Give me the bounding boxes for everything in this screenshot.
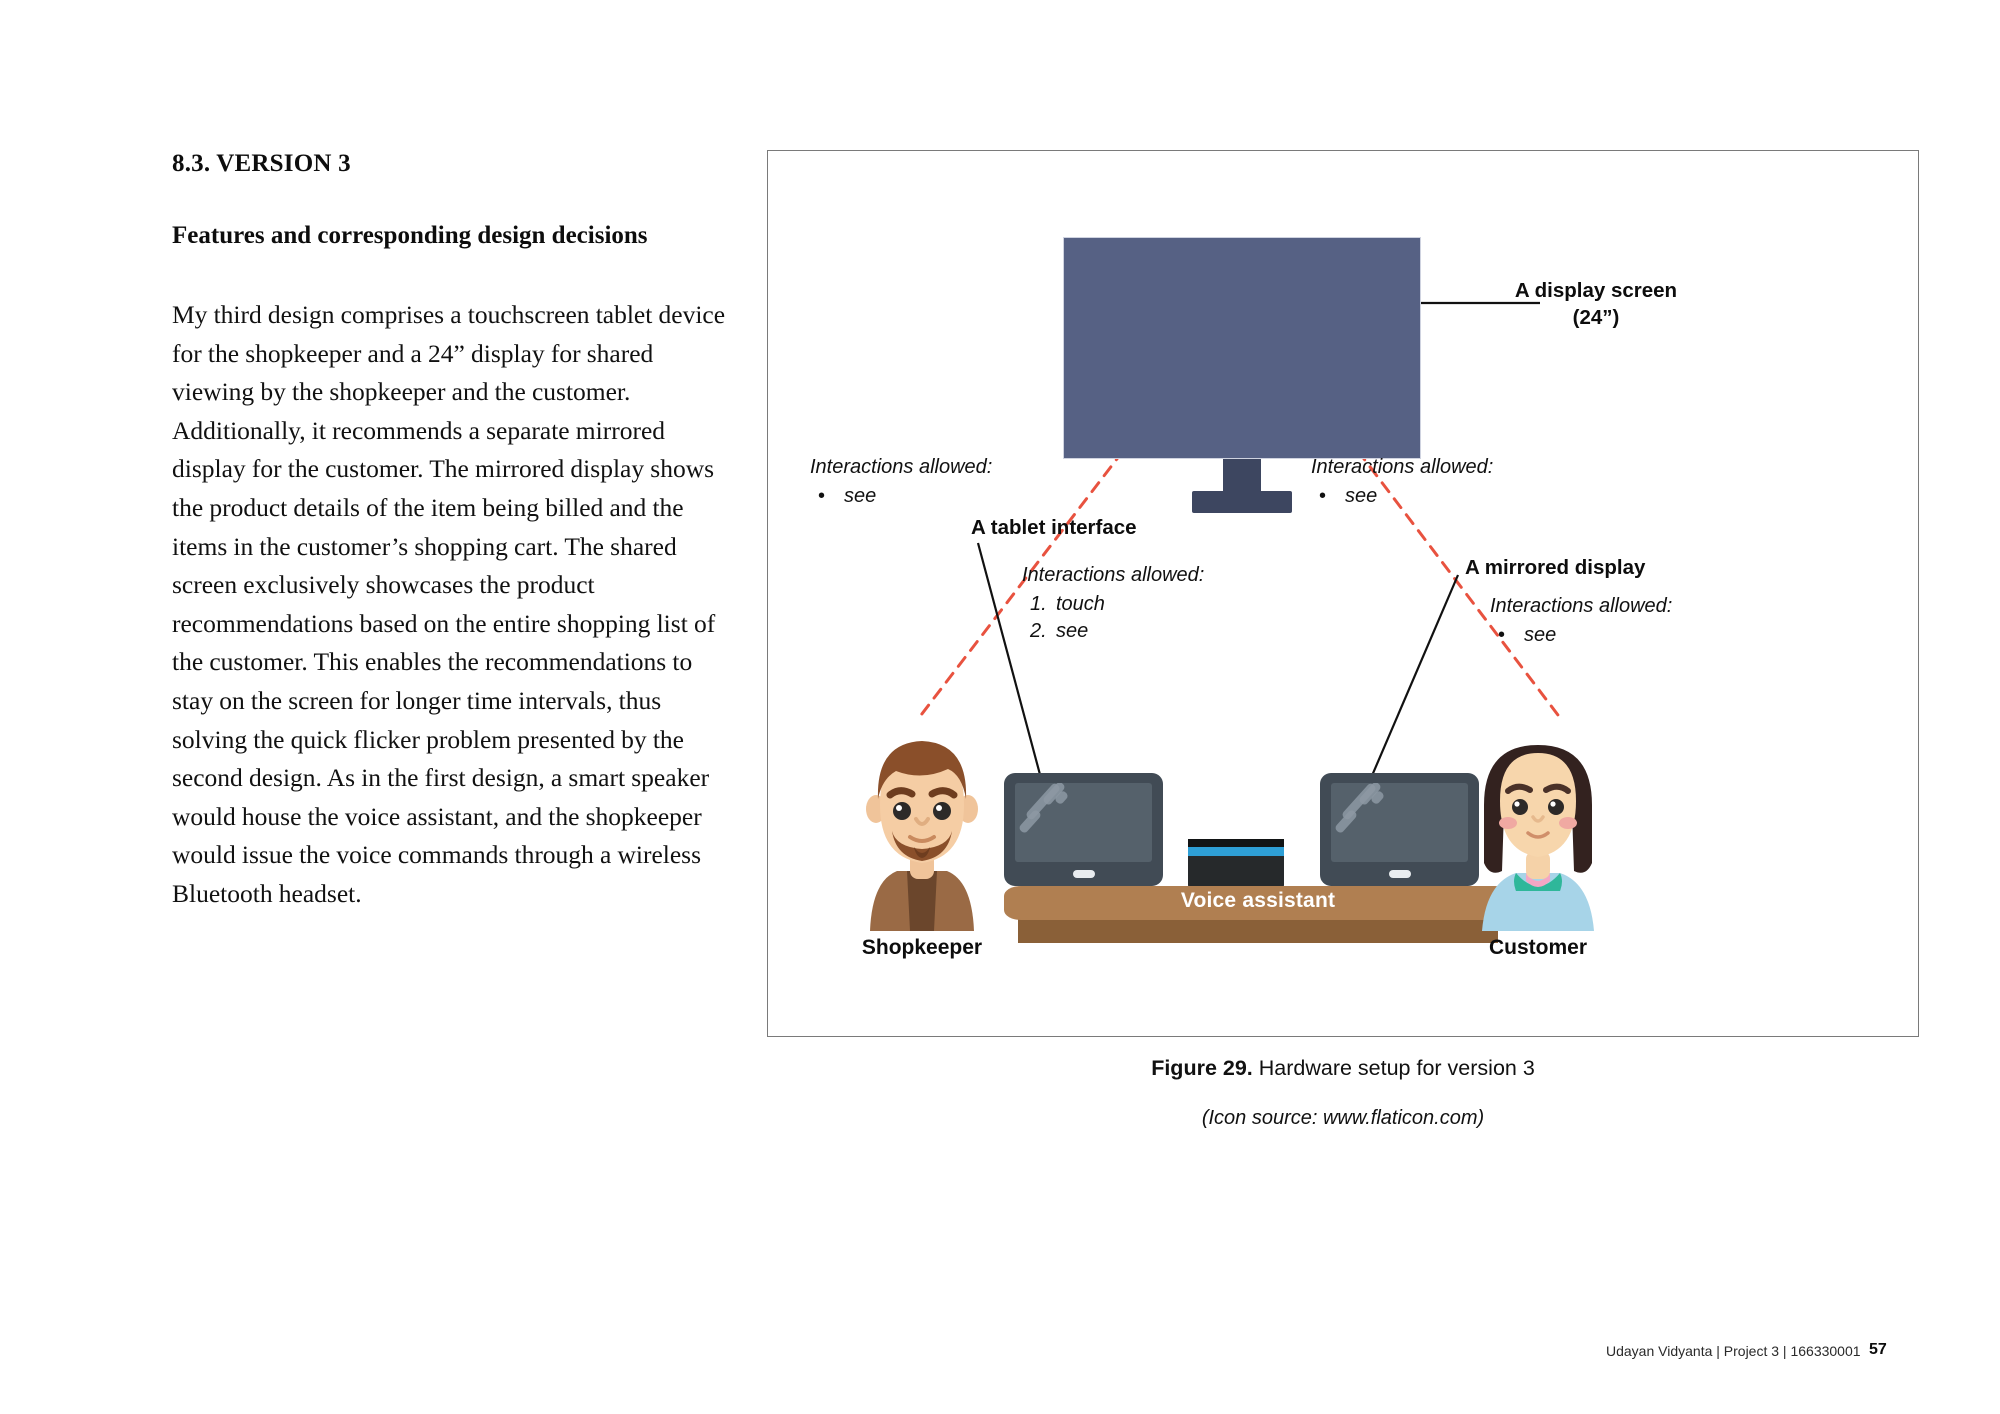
interactions-list: •see — [1311, 483, 1493, 510]
monitor-base — [1192, 491, 1292, 513]
list-item-label: touch — [1056, 591, 1105, 618]
footer-credit: Udayan Vidyanta | Project 3 | 166330001 — [1606, 1343, 1861, 1359]
list-item-label: see — [1056, 618, 1088, 645]
voice-assistant-label: Voice assistant — [1004, 889, 1512, 913]
interactions-heading: Interactions allowed: — [1311, 454, 1493, 481]
list-item: •see — [1490, 622, 1672, 649]
shopkeeper-label: Shopkeeper — [812, 936, 1032, 960]
figure-number: Figure 29. — [1151, 1056, 1253, 1080]
list-marker: 2. — [1022, 618, 1056, 645]
figure-canvas: Voice assistant Shopkeeper — [768, 151, 1918, 1036]
tablet-mirrored-home-button[interactable] — [1389, 870, 1411, 878]
customer-label: Customer — [1428, 936, 1648, 960]
list-item: •see — [1311, 483, 1493, 510]
bullet-icon: • — [810, 483, 844, 510]
tablet-shopkeeper-screen[interactable] — [1015, 783, 1152, 862]
tablet-home-button[interactable] — [1073, 870, 1095, 878]
tablet-shopkeeper[interactable] — [1004, 773, 1163, 886]
figure-source-note: (Icon source: www.flaticon.com) — [767, 1107, 1919, 1130]
shopkeeper-avatar — [852, 731, 992, 931]
speaker-light-ring — [1188, 847, 1284, 856]
interactions-customer-display: Interactions allowed: •see — [1311, 454, 1493, 510]
body-paragraph: My third design comprises a touchscreen … — [172, 296, 732, 914]
interactions-list: •see — [1490, 622, 1672, 649]
list-item-label: see — [1524, 622, 1556, 649]
section-heading: 8.3. VERSION 3 — [172, 150, 732, 178]
interactions-mirrored: Interactions allowed: •see — [1490, 593, 1672, 649]
page-number: 57 — [1869, 1341, 1887, 1359]
bullet-icon: • — [1311, 483, 1345, 510]
display-screen-monitor — [1063, 237, 1421, 459]
figure-caption: Figure 29. Hardware setup for version 3 — [767, 1056, 1919, 1081]
bullet-icon: • — [1490, 622, 1524, 649]
speaker-top-face — [1188, 839, 1284, 847]
interactions-heading: Interactions allowed: — [810, 454, 992, 481]
list-item: 2.see — [1022, 618, 1204, 645]
interactions-heading: Interactions allowed: — [1022, 562, 1204, 589]
interactions-list: 1.touch 2.see — [1022, 591, 1204, 645]
figure-caption-text: Hardware setup for version 3 — [1253, 1056, 1535, 1080]
list-item: •see — [810, 483, 992, 510]
figure-container: Voice assistant Shopkeeper — [767, 150, 1919, 1037]
smart-speaker[interactable] — [1188, 839, 1284, 887]
list-item: 1.touch — [1022, 591, 1204, 618]
customer-avatar — [1468, 731, 1608, 931]
list-marker: 1. — [1022, 591, 1056, 618]
leader-line-mirror — [1362, 575, 1458, 799]
mirrored-display-label: A mirrored display — [1465, 554, 1645, 581]
interactions-shopkeeper-display: Interactions allowed: •see — [810, 454, 992, 510]
tablet-mirrored-screen[interactable] — [1331, 783, 1468, 862]
subsection-heading: Features and corresponding design decisi… — [172, 222, 732, 250]
display-screen-label: A display screen (24”) — [1486, 277, 1706, 331]
text-column: 8.3. VERSION 3 Features and correspondin… — [172, 150, 732, 914]
list-item-label: see — [1345, 483, 1377, 510]
interactions-tablet: Interactions allowed: 1.touch 2.see — [1022, 562, 1204, 645]
interactions-heading: Interactions allowed: — [1490, 593, 1672, 620]
tablet-mirrored-display[interactable] — [1320, 773, 1479, 886]
interactions-list: •see — [810, 483, 992, 510]
tablet-interface-label: A tablet interface — [971, 514, 1137, 541]
list-item-label: see — [844, 483, 876, 510]
